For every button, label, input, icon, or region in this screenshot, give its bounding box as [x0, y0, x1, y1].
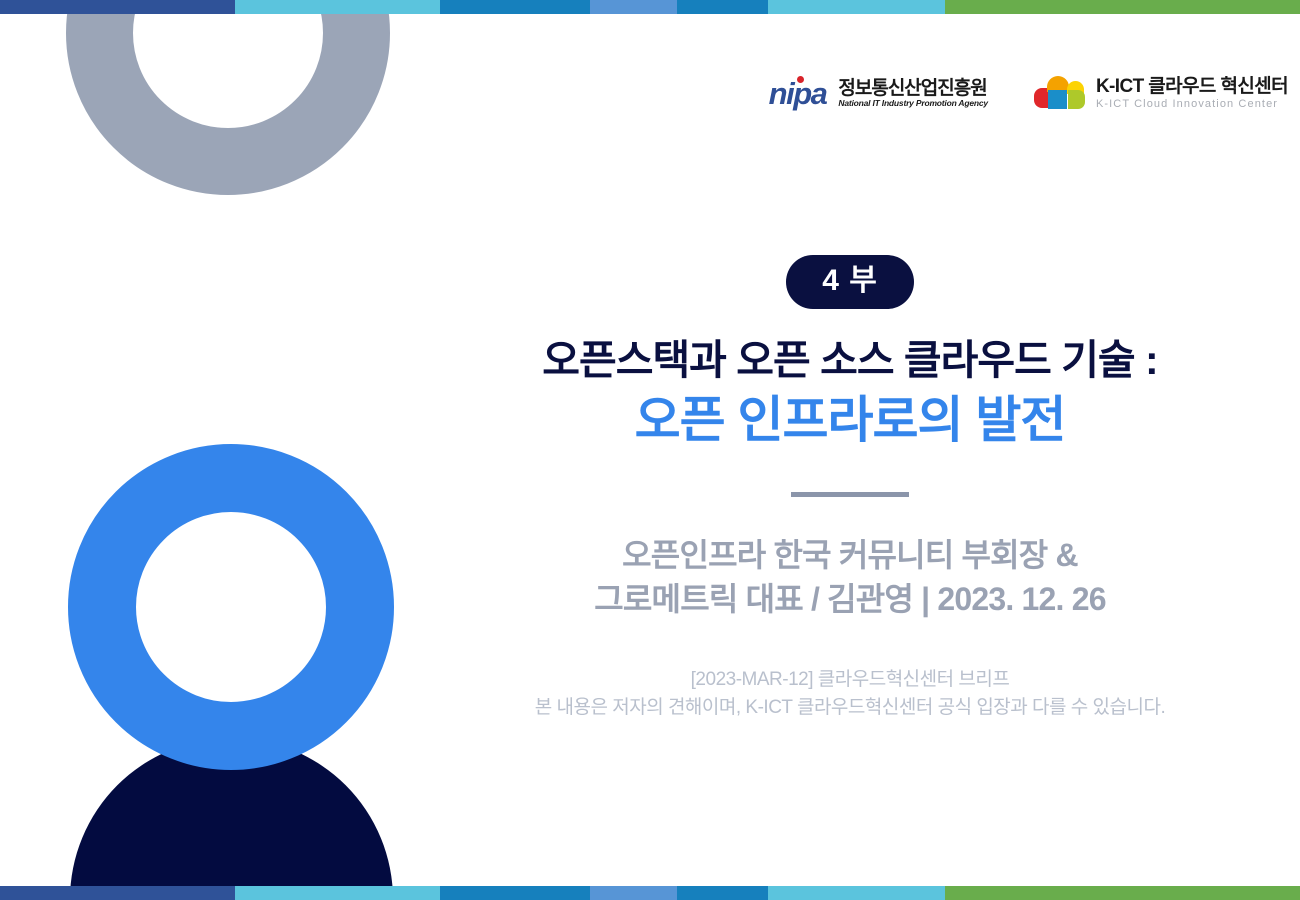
- title-slide: nipa 정보통신산업진흥원 National IT Industry Prom…: [0, 0, 1300, 900]
- color-bar-segment-6: [768, 886, 945, 900]
- cloud-icon-blue-segment: [1048, 90, 1067, 109]
- color-bar-segment-3: [440, 886, 590, 900]
- logo-row: nipa 정보통신산업진흥원 National IT Industry Prom…: [769, 74, 1288, 112]
- nipa-logo-text: 정보통신산업진흥원 National IT Industry Promotion…: [838, 79, 988, 108]
- gray-ring-decoration: [66, 0, 390, 195]
- color-bar-segment-2: [235, 0, 440, 14]
- kict-logo: K-ICT 클라우드 혁신센터 K-ICT Cloud Innovation C…: [1034, 74, 1288, 112]
- title-line-1: 오픈스택과 오픈 소스 클라우드 기술 :: [430, 335, 1270, 386]
- color-bar-segment-5: [677, 0, 768, 14]
- bottom-color-bar: [0, 886, 1300, 900]
- title-line-2: 오픈 인프라로의 발전: [430, 390, 1270, 450]
- kict-logo-text: K-ICT 클라우드 혁신센터 K-ICT Cloud Innovation C…: [1096, 76, 1288, 110]
- kict-korean-name: K-ICT 클라우드 혁신센터: [1096, 76, 1288, 98]
- disclaimer-line-2: 본 내용은 저자의 견해이며, K-ICT 클라우드혁신센터 공식 입장과 다를…: [430, 694, 1270, 723]
- color-bar-segment-1: [0, 886, 235, 900]
- color-bar-segment-7: [945, 886, 1300, 900]
- nipa-korean-name: 정보통신산업진흥원: [838, 79, 988, 99]
- presenter-block: 오픈인프라 한국 커뮤니티 부회장 & 그로메트릭 대표 / 김관영 | 202…: [430, 533, 1270, 621]
- color-bar-segment-4: [590, 0, 677, 14]
- disclaimer-line-1: [2023-MAR-12] 클라우드혁신센터 브리프: [430, 666, 1270, 695]
- slide-content: 4 부 오픈스택과 오픈 소스 클라우드 기술 : 오픈 인프라로의 발전 오픈…: [430, 255, 1270, 723]
- color-bar-segment-4: [590, 886, 677, 900]
- cloud-icon-green-segment: [1068, 90, 1085, 109]
- title-divider: [791, 492, 909, 497]
- color-bar-segment-2: [235, 886, 440, 900]
- color-bar-segment-5: [677, 886, 768, 900]
- kict-english-name: K-ICT Cloud Innovation Center: [1096, 98, 1288, 111]
- presenter-line-1: 오픈인프라 한국 커뮤니티 부회장 &: [430, 533, 1270, 577]
- nipa-wordmark-icon: nipa: [769, 78, 829, 109]
- nipa-logo: nipa 정보통신산업진흥원 National IT Industry Prom…: [769, 78, 988, 109]
- color-bar-segment-6: [768, 0, 945, 14]
- part-badge: 4 부: [786, 255, 914, 309]
- top-color-bar: [0, 0, 1300, 14]
- cloud-icon-red-segment: [1034, 88, 1048, 108]
- nipa-dot-icon: [797, 76, 804, 83]
- cloud-icon: [1034, 74, 1086, 112]
- color-bar-segment-1: [0, 0, 235, 14]
- blue-ring-decoration: [68, 444, 394, 770]
- nipa-english-name: National IT Industry Promotion Agency: [838, 99, 988, 108]
- presenter-line-2: 그로메트릭 대표 / 김관영 | 2023. 12. 26: [430, 577, 1270, 621]
- color-bar-segment-7: [945, 0, 1300, 14]
- disclaimer-block: [2023-MAR-12] 클라우드혁신센터 브리프 본 내용은 저자의 견해이…: [430, 666, 1270, 724]
- color-bar-segment-3: [440, 0, 590, 14]
